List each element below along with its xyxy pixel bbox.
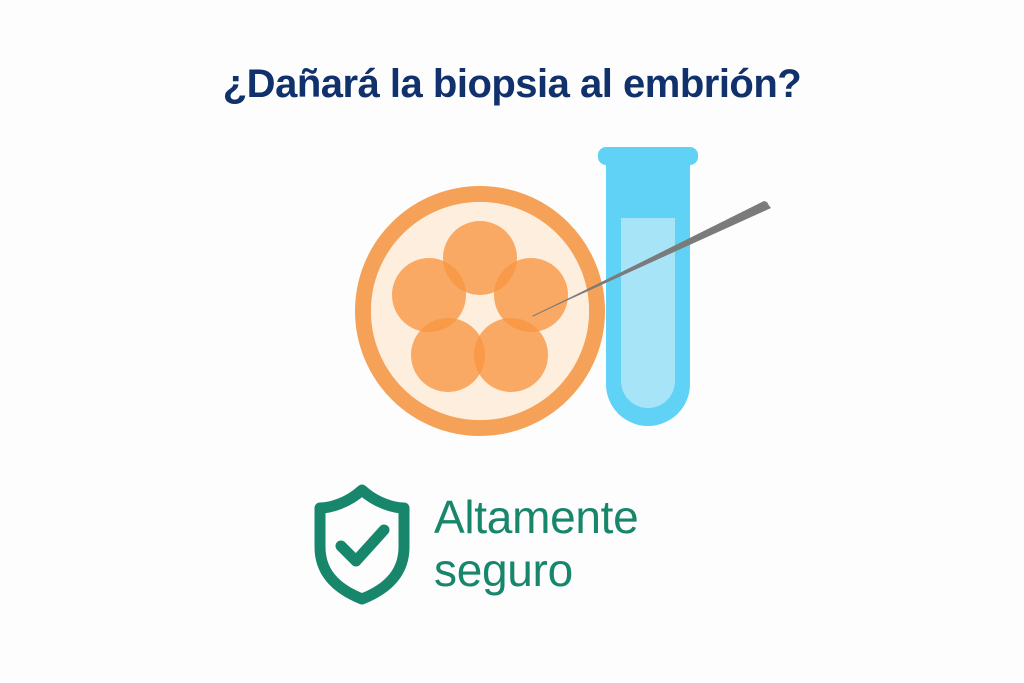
safety-badge-line-2: seguro — [434, 544, 638, 597]
shield-check-icon — [312, 481, 412, 606]
safety-badge-line-1: Altamente — [434, 491, 638, 544]
safety-badge-label: Altamente seguro — [434, 491, 638, 597]
safety-badge: Altamente seguro — [312, 476, 732, 611]
test-tube-icon — [598, 147, 698, 426]
infographic-canvas: ¿Dañará la biopsia al embrión? — [0, 0, 1024, 683]
embryo-biopsy-illustration — [330, 130, 800, 475]
page-title: ¿Dañará la biopsia al embrión? — [0, 58, 1024, 110]
embryo-icon — [363, 194, 597, 428]
